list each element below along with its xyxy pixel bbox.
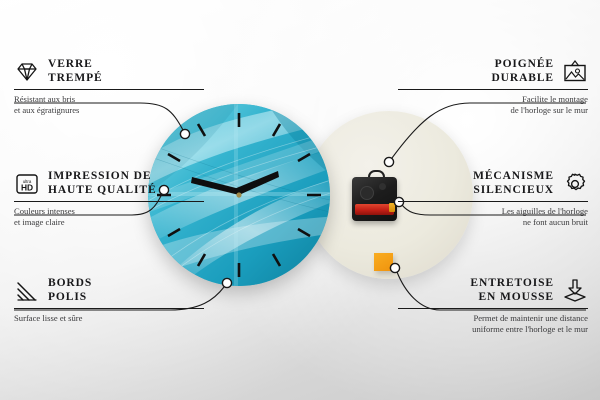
callout-mecanisme-silencieux[interactable]: MÉCANISME SILENCIEUX Les aiguilles de l'… [398, 170, 588, 228]
callout-header: BORDS POLIS [14, 277, 204, 304]
callout-sub-line2: et aux égratignures [14, 105, 204, 116]
callout-verre-trempe[interactable]: VERRE TREMPÉ Résistant aux bris et aux é… [14, 58, 204, 116]
callout-header: MÉCANISME SILENCIEUX [398, 170, 588, 197]
callout-poignee-durable[interactable]: POIGNÉE DURABLE Facilite le montage de l… [398, 58, 588, 116]
callout-divider [14, 201, 204, 202]
polished-edges-icon [14, 278, 40, 304]
callout-sub-line2: ne font aucun bruit [398, 217, 588, 228]
ultra-hd-icon: ultra HD [14, 171, 40, 197]
callout-divider [398, 201, 588, 202]
callout-sub-line1: Résistant aux bris [14, 94, 204, 105]
diamond-icon [14, 59, 40, 85]
callout-divider [14, 89, 204, 90]
callout-title-line1: POIGNÉE [491, 58, 554, 72]
infographic-canvas: VERRE TREMPÉ Résistant aux bris et aux é… [0, 0, 600, 400]
callout-title-line2: HAUTE QUALITÉ [48, 184, 157, 198]
callout-title-line2: EN MOUSSE [470, 291, 554, 305]
callout-title-line1: IMPRESSION DE [48, 170, 157, 184]
callout-header: ultra HD IMPRESSION DE HAUTE QUALITÉ [14, 170, 204, 197]
callout-header: VERRE TREMPÉ [14, 58, 204, 85]
callout-sub-line2: et image claire [14, 217, 204, 228]
callout-sub-line2: de l'horloge sur le mur [398, 105, 588, 116]
callout-header: ENTRETOISE EN MOUSSE [398, 277, 588, 304]
callout-divider [14, 308, 204, 309]
callout-sub-line1: Permet de maintenir une distance [398, 313, 588, 324]
callout-sub-line1: Facilite le montage [398, 94, 588, 105]
callout-title-line2: TREMPÉ [48, 72, 103, 86]
callout-sub-line1: Couleurs intenses [14, 206, 204, 217]
callout-header: POIGNÉE DURABLE [398, 58, 588, 85]
callout-title-line2: DURABLE [491, 72, 554, 86]
callout-entretoise-en-mousse[interactable]: ENTRETOISE EN MOUSSE Permet de maintenir… [398, 277, 588, 335]
callout-divider [398, 89, 588, 90]
svg-text:HD: HD [21, 182, 33, 192]
callout-title-line1: BORDS [48, 277, 92, 291]
foam-spacer-icon [562, 278, 588, 304]
picture-hanger-icon [562, 59, 588, 85]
callout-title-line2: POLIS [48, 291, 92, 305]
callout-title-line1: VERRE [48, 58, 103, 72]
callout-sub-line1: Surface lisse et sûre [14, 313, 204, 324]
callout-divider [398, 308, 588, 309]
callout-sub-line2: uniforme entre l'horloge et le mur [398, 324, 588, 335]
callout-impression-haute-qualite[interactable]: ultra HD IMPRESSION DE HAUTE QUALITÉ Cou… [14, 170, 204, 228]
callout-sub-line1: Les aiguilles de l'horloge [398, 206, 588, 217]
callout-title-line1: ENTRETOISE [470, 277, 554, 291]
callout-title-line1: MÉCANISME [473, 170, 554, 184]
callout-bords-polis[interactable]: BORDS POLIS Surface lisse et sûre [14, 277, 204, 324]
gear-icon [562, 171, 588, 197]
callout-title-line2: SILENCIEUX [473, 184, 554, 198]
